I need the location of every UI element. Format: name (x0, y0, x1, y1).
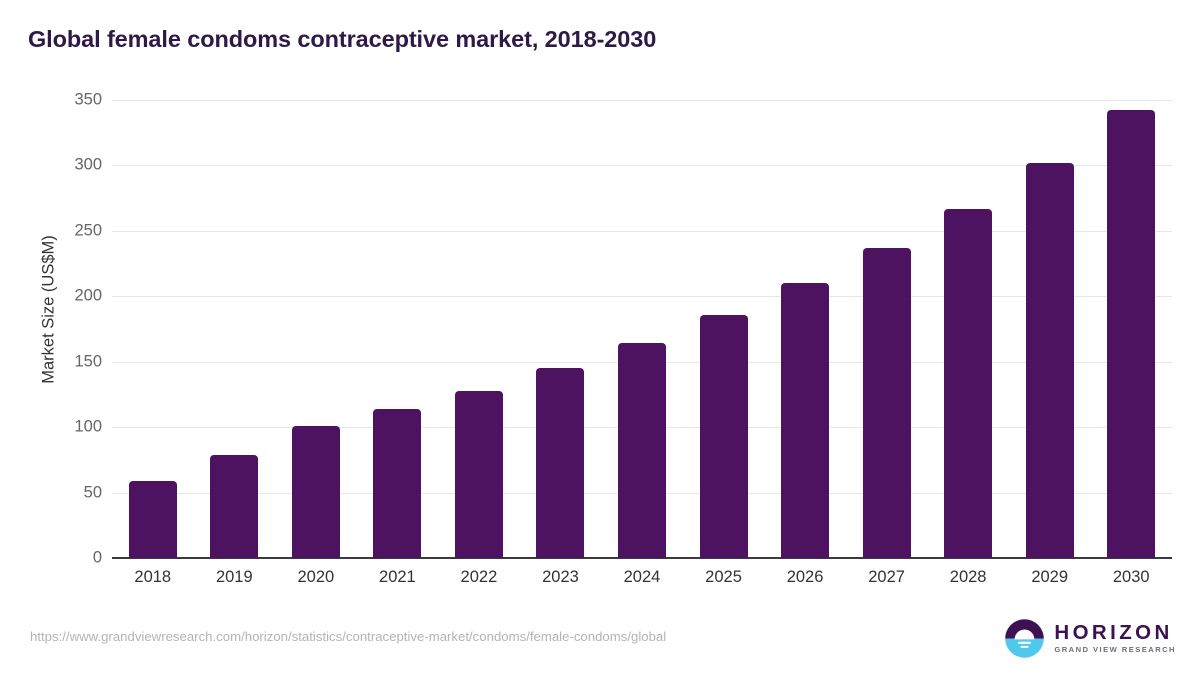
chart-plot-area: Market Size (US$M) 050100150200250300350… (0, 0, 1200, 675)
logo-text: HORIZON GRAND VIEW RESEARCH (1054, 623, 1176, 654)
x-axis-tick-label-2024: 2024 (601, 568, 683, 587)
bar-2020[interactable] (292, 426, 340, 558)
x-axis-tick-label-2028: 2028 (927, 568, 1009, 587)
brand-logo: HORIZON GRAND VIEW RESEARCH (1004, 618, 1176, 659)
x-axis-tick-label-2023: 2023 (520, 568, 602, 587)
bar-2027[interactable] (863, 248, 911, 558)
bar-slot (1009, 100, 1091, 558)
bar-slot (275, 100, 357, 558)
bar-2030[interactable] (1107, 110, 1155, 558)
y-axis-tick-label: 50 (12, 483, 102, 502)
bar-2024[interactable] (618, 343, 666, 558)
source-url[interactable]: https://www.grandviewresearch.com/horizo… (30, 629, 666, 644)
bar-2022[interactable] (455, 391, 503, 558)
bar-slot (438, 100, 520, 558)
x-axis-tick-label-2018: 2018 (112, 568, 194, 587)
bar-2025[interactable] (700, 315, 748, 558)
bar-2019[interactable] (210, 455, 258, 558)
bar-slot (683, 100, 765, 558)
y-axis-tick-label: 300 (12, 156, 102, 175)
x-axis-tick-label-2027: 2027 (846, 568, 928, 587)
x-axis-tick-label-2021: 2021 (357, 568, 439, 587)
y-axis-tick-label: 150 (12, 352, 102, 371)
x-axis-tick-label-2026: 2026 (764, 568, 846, 587)
x-axis-tick-label-2029: 2029 (1009, 568, 1091, 587)
x-axis-tick-label-2025: 2025 (683, 568, 765, 587)
x-axis-tick-label-2019: 2019 (194, 568, 276, 587)
x-axis-tick-label-2030: 2030 (1090, 568, 1172, 587)
bar-slot (764, 100, 846, 558)
bar-2021[interactable] (373, 409, 421, 558)
bar-slot (927, 100, 1009, 558)
bar-2029[interactable] (1026, 163, 1074, 558)
bar-2018[interactable] (129, 481, 177, 558)
y-axis-tick-label: 100 (12, 418, 102, 437)
bar-slot (194, 100, 276, 558)
y-axis-tick-label: 350 (12, 91, 102, 110)
y-axis-tick-label: 0 (12, 549, 102, 568)
x-axis-tick-label-2022: 2022 (438, 568, 520, 587)
bar-slot (846, 100, 928, 558)
bar-slot (357, 100, 439, 558)
chart-page: Global female condoms contraceptive mark… (0, 0, 1200, 675)
logo-wordmark: HORIZON (1054, 623, 1176, 644)
horizon-sun-circle-icon (1004, 618, 1045, 659)
bar-2023[interactable] (536, 368, 584, 558)
bar-slot (601, 100, 683, 558)
bar-series (112, 100, 1172, 558)
x-axis-tick-label-2020: 2020 (275, 568, 357, 587)
bar-slot (1090, 100, 1172, 558)
bar-2028[interactable] (944, 209, 992, 558)
bar-slot (112, 100, 194, 558)
y-axis-tick-label: 250 (12, 221, 102, 240)
bar-2026[interactable] (781, 283, 829, 558)
bar-slot (520, 100, 602, 558)
logo-tagline: GRAND VIEW RESEARCH (1054, 646, 1176, 654)
y-axis-tick-label: 200 (12, 287, 102, 306)
